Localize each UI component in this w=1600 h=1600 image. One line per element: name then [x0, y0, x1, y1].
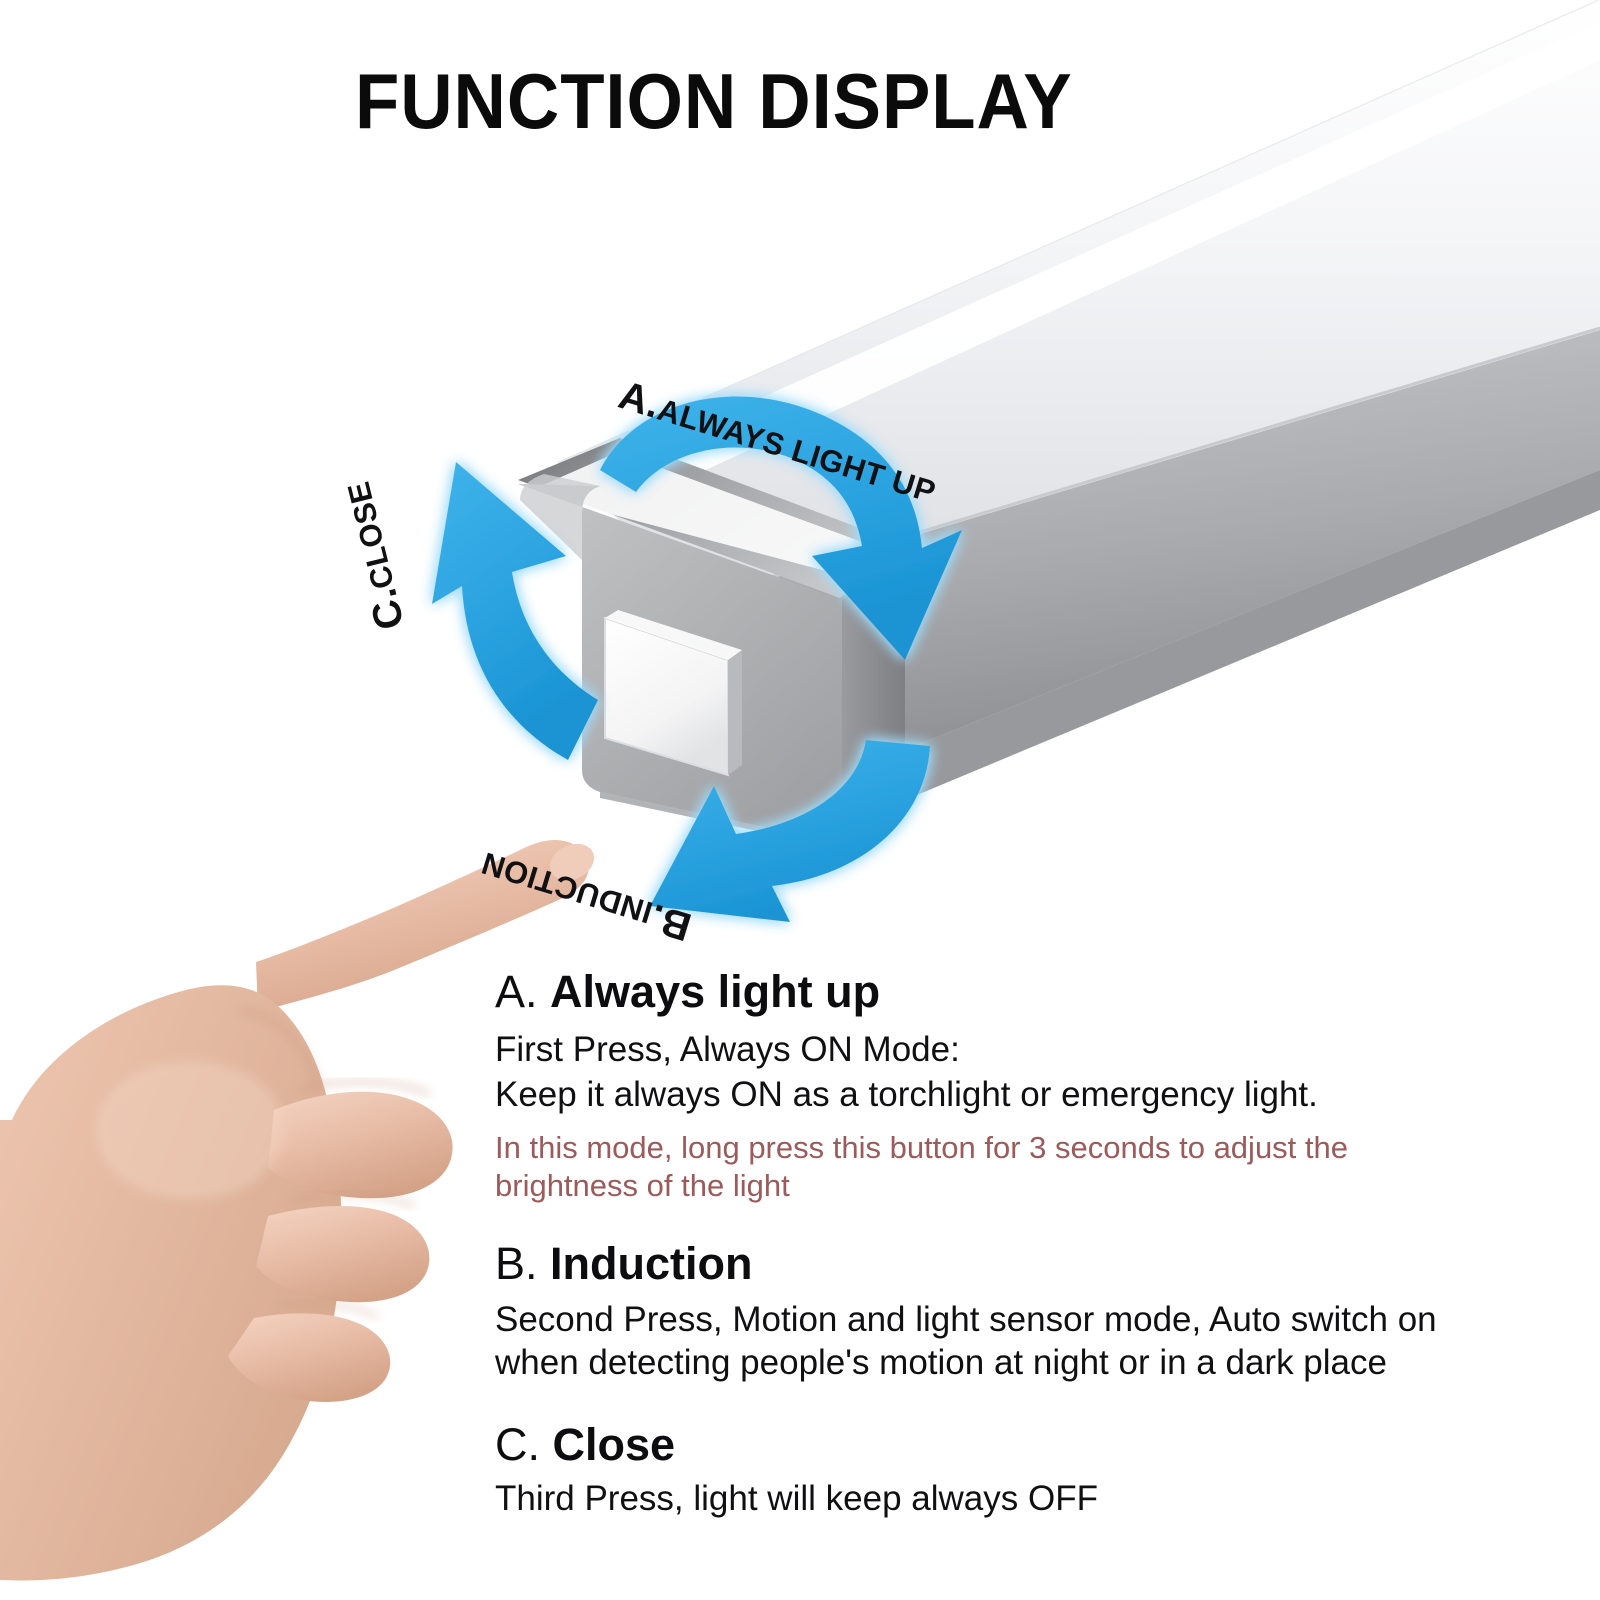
- section-c-letter: C.: [495, 1419, 540, 1470]
- arrow-c-close: [432, 462, 598, 760]
- function-description-list: A. Always light up First Press, Always O…: [495, 965, 1505, 1525]
- diagram-label-a: A.ALWAYS LIGHT UP: [613, 373, 942, 512]
- function-section-b: B. Induction Second Press, Motion and li…: [495, 1237, 1505, 1385]
- diagram-label-b-prefix: B.: [644, 895, 696, 949]
- function-section-a: A. Always light up First Press, Always O…: [495, 965, 1505, 1205]
- diagram-label-b-text: INDUCTION: [477, 845, 656, 930]
- function-section-c-heading: C. Close: [495, 1418, 1505, 1471]
- diagram-label-c-text: CLOSE: [341, 478, 401, 593]
- diagram-label-b: B.INDUCTION: [475, 842, 696, 949]
- section-b-line-1: Second Press, Motion and light sensor mo…: [495, 1298, 1505, 1341]
- arrow-a-always-light-up: [600, 397, 962, 660]
- section-a-line-1: First Press, Always ON Mode:: [495, 1028, 1505, 1071]
- section-a-letter: A.: [495, 966, 538, 1017]
- diagram-label-c: C.CLOSE: [334, 477, 414, 634]
- section-c-line-1: Third Press, light will keep always OFF: [495, 1477, 1505, 1520]
- diagram-label-a-prefix: A.: [614, 373, 666, 427]
- arrow-b-induction: [650, 740, 930, 922]
- section-b-name: Induction: [550, 1238, 752, 1289]
- mode-button-shape: [605, 610, 742, 775]
- section-b-line-2: when detecting people's motion at night …: [495, 1341, 1505, 1384]
- section-c-name: Close: [553, 1419, 676, 1470]
- function-section-b-heading: B. Induction: [495, 1237, 1505, 1290]
- diagram-label-c-prefix: C.: [360, 584, 413, 634]
- section-a-line-2: Keep it always ON as a torchlight or eme…: [495, 1073, 1505, 1116]
- section-a-note: In this mode, long press this button for…: [495, 1129, 1455, 1205]
- section-b-letter: B.: [495, 1238, 538, 1289]
- diagram-label-a-text: ALWAYS LIGHT UP: [654, 392, 940, 510]
- function-section-a-heading: A. Always light up: [495, 965, 1505, 1018]
- infographic-canvas: FUNCTION DISPLAY A.ALWAYS LIGHT UP C.CLO…: [0, 0, 1600, 1600]
- page-title: FUNCTION DISPLAY: [355, 62, 1173, 140]
- function-section-c: C. Close Third Press, light will keep al…: [495, 1418, 1505, 1520]
- light-end-cap: [518, 438, 905, 845]
- section-a-name: Always light up: [550, 966, 880, 1017]
